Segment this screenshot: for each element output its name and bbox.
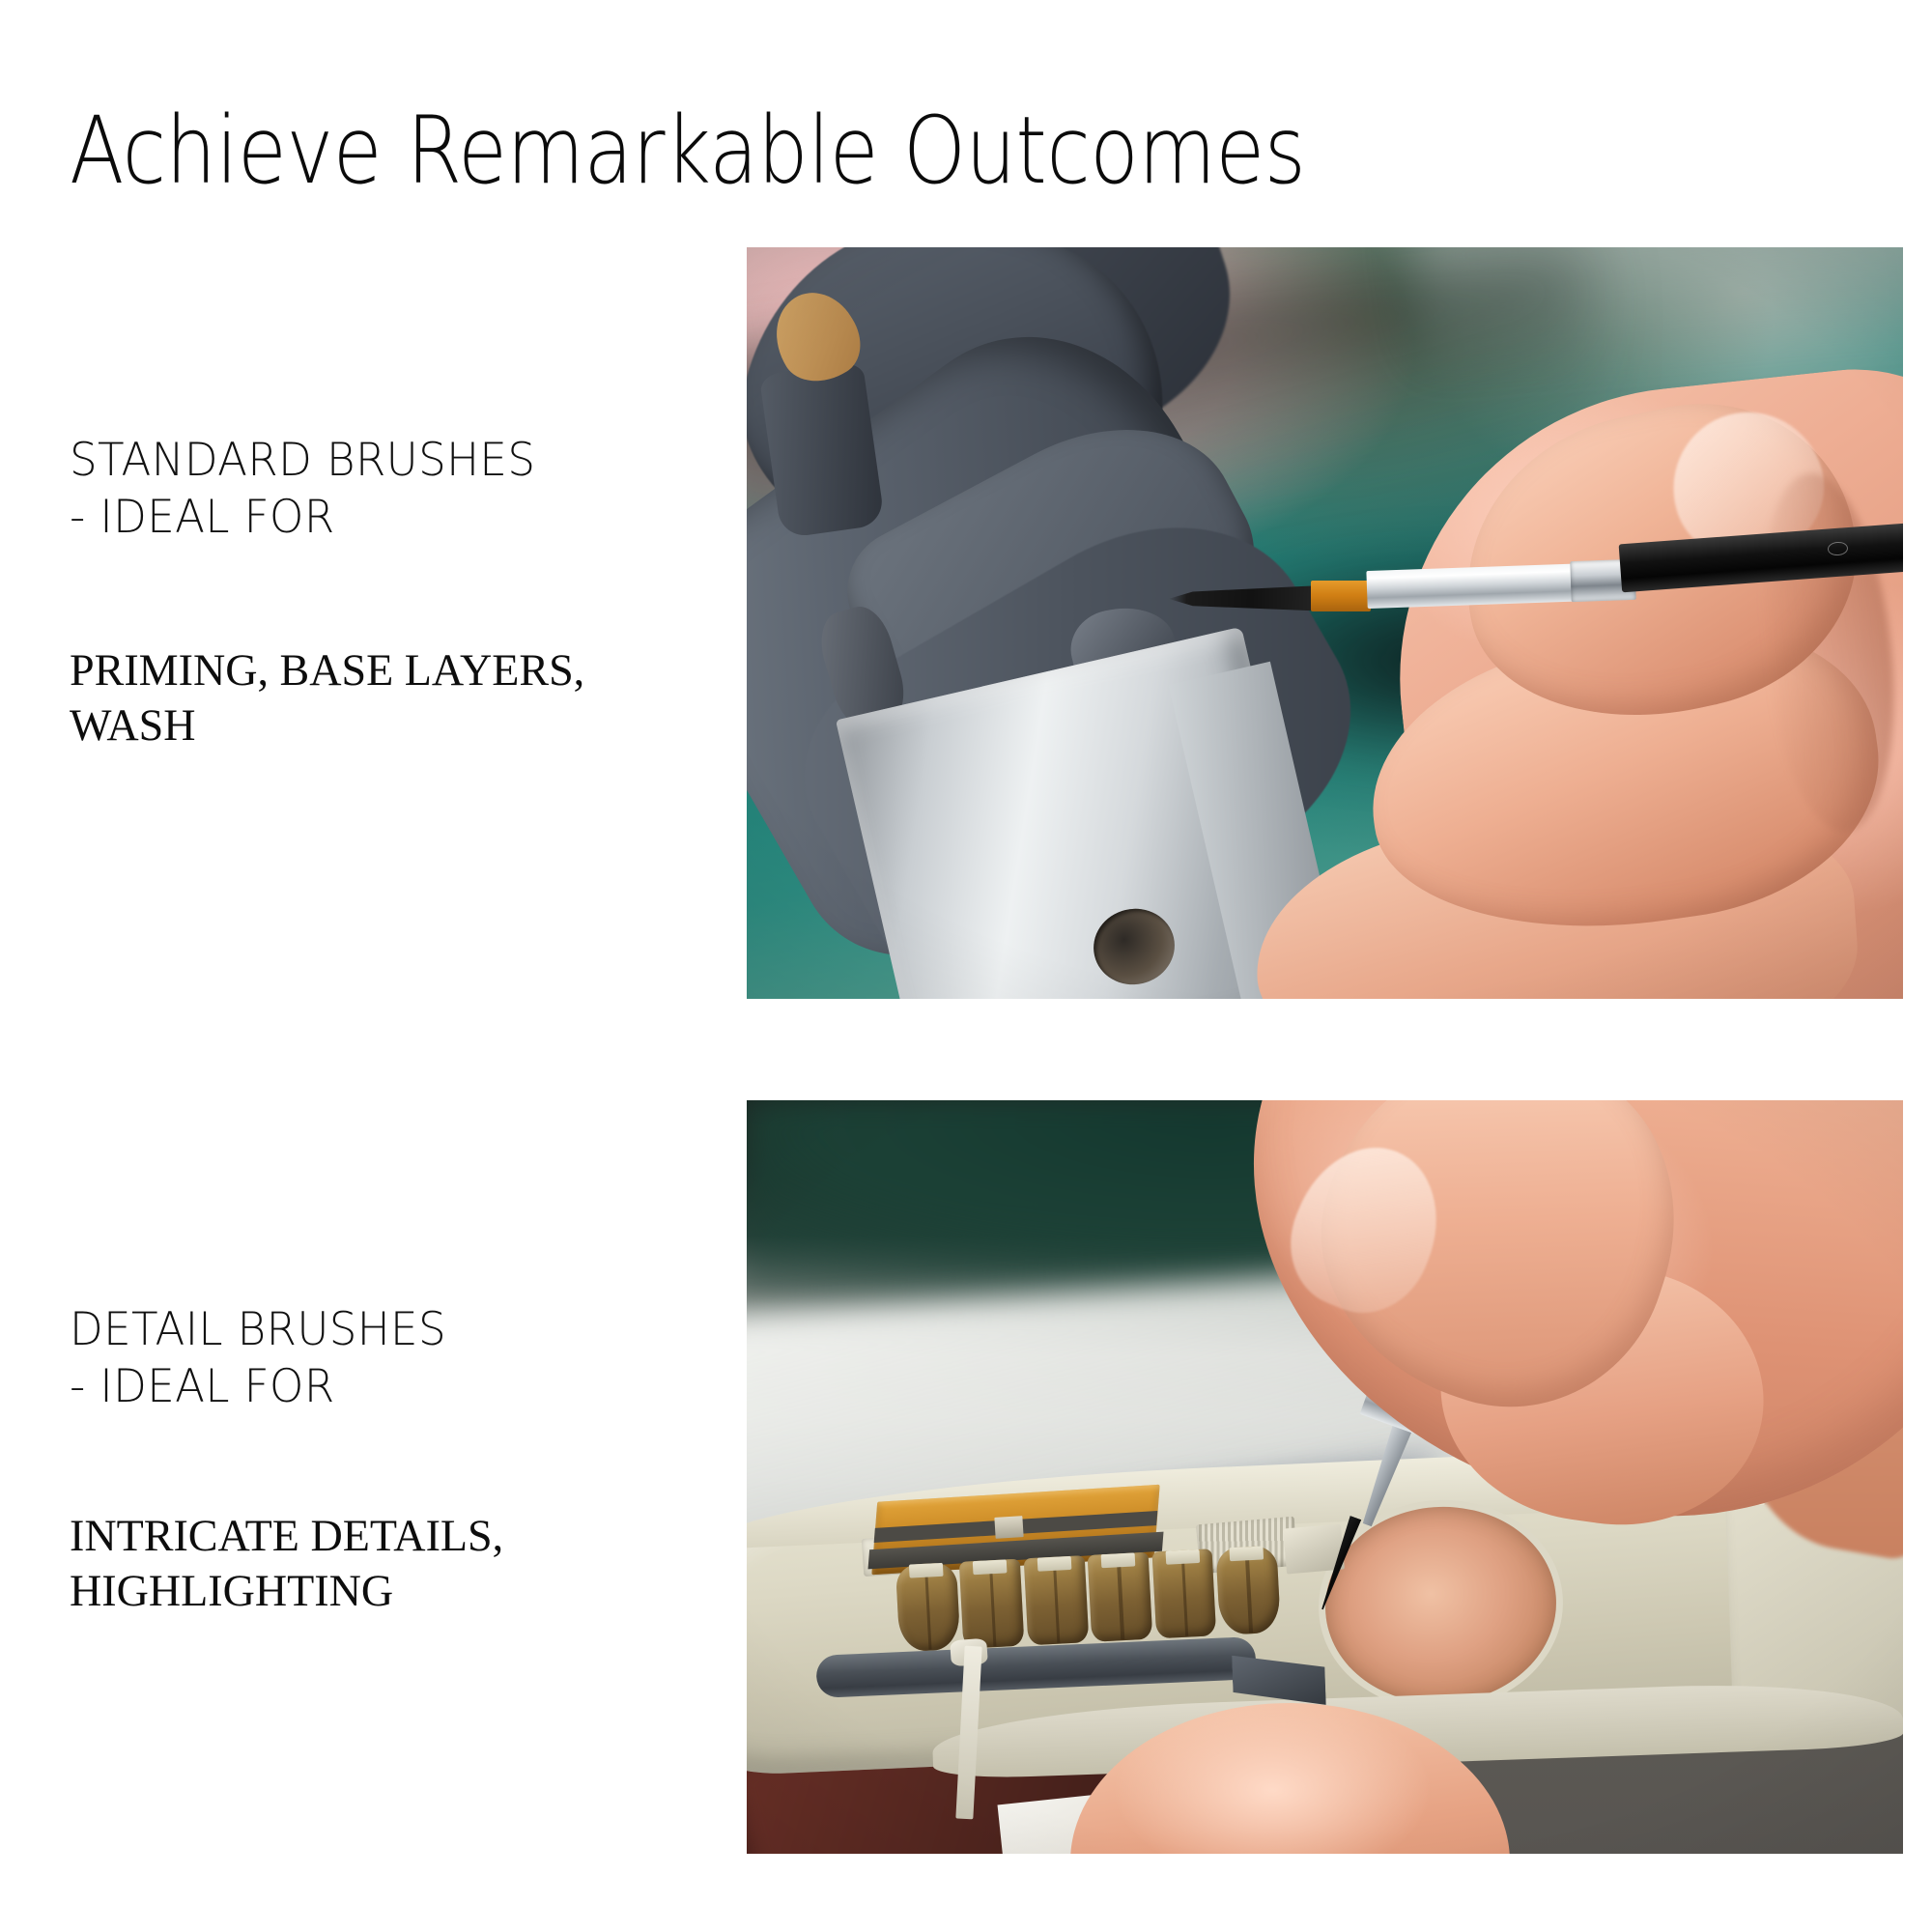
standard-brush-photo: [747, 247, 1903, 999]
stowage-pouch: [1151, 1548, 1216, 1639]
detail-brushes-heading: DETAIL BRUSHES - IDEAL FOR: [70, 1302, 663, 1416]
standard-brushes-heading: STANDARD BRUSHES - IDEAL FOR: [70, 433, 663, 547]
detail-brushes-usecases: INTRICATE DETAILS, HIGHLIGHTING: [70, 1416, 675, 1620]
page-title: Achieve Remarkable Outcomes: [70, 102, 1305, 200]
stowage-pouch: [895, 1562, 960, 1653]
standard-brush-collar: [1311, 581, 1371, 611]
standard-brushes-usecases: PRIMING, BASE LAYERS, WASH: [70, 547, 675, 754]
stowage-pouch: [1088, 1552, 1152, 1643]
caption-block-detail-brushes: DETAIL BRUSHES - IDEAL FOR INTRICATE DET…: [70, 1302, 688, 1619]
detail-brush-photo: [747, 1100, 1903, 1854]
caption-block-standard-brushes: STANDARD BRUSHES - IDEAL FOR PRIMING, BA…: [70, 433, 688, 753]
stowage-pouch: [1023, 1555, 1088, 1646]
stowage-pouch: [1215, 1546, 1280, 1636]
toolbox-buckle: [995, 1516, 1024, 1539]
stowage-pouch: [959, 1559, 1024, 1650]
